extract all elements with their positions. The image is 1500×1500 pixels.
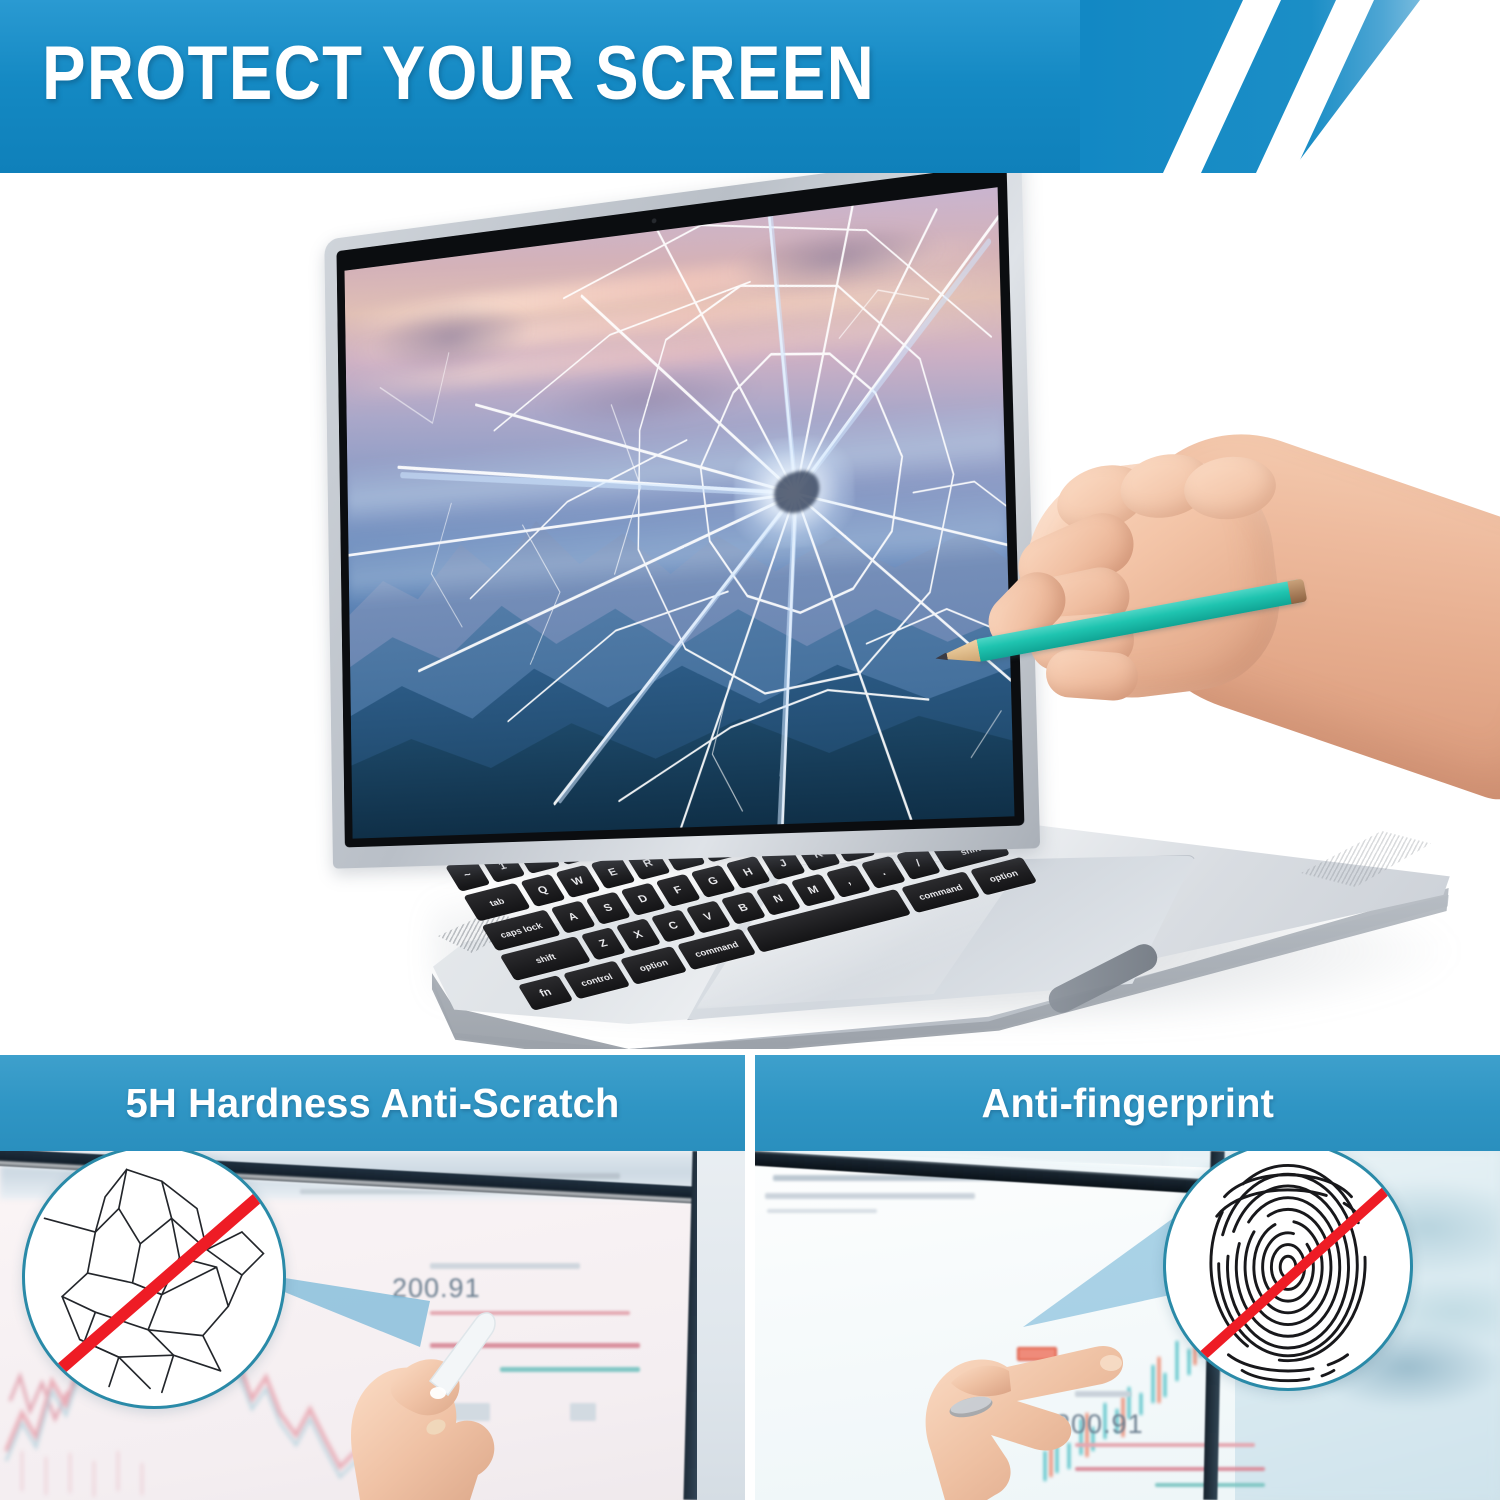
- feature-panel-anti-fingerprint: Anti-fingerprint: [755, 1055, 1500, 1500]
- panel-photo-anti-scratch: 200.91: [0, 1151, 745, 1500]
- header-banner: PROTECT YOUR SCREEN: [0, 0, 1500, 173]
- panel-title-anti-scratch: 5H Hardness Anti-Scratch: [126, 1080, 620, 1127]
- laptop-screen-bezel: [336, 173, 1024, 847]
- finger-pinky: [1044, 648, 1139, 702]
- feature-panel-anti-scratch: 5H Hardness Anti-Scratch: [0, 1055, 745, 1500]
- laptop-lid: [324, 173, 1040, 869]
- screen-crack-overlay: [345, 187, 1015, 838]
- laptop-screen: [345, 187, 1015, 838]
- callout-anti-scratch: [22, 1151, 286, 1409]
- laptop-photo: esc F1 F2 F3 F4 F5 F6 F7 F8 F9 F10 F11 F…: [0, 173, 1500, 1050]
- callout-anti-fingerprint: [1163, 1151, 1413, 1391]
- panel-banner-anti-fingerprint: Anti-fingerprint: [755, 1055, 1500, 1151]
- webcam-icon: [652, 218, 657, 223]
- product-feature-infographic: PROTECT YOUR SCREEN esc F1 F2: [0, 0, 1500, 1500]
- feature-panels: 5H Hardness Anti-Scratch: [0, 1055, 1500, 1500]
- panel-photo-anti-fingerprint: 200.91: [755, 1151, 1500, 1500]
- hero-section: esc F1 F2 F3 F4 F5 F6 F7 F8 F9 F10 F11 F…: [0, 173, 1500, 1050]
- page-title: PROTECT YOUR SCREEN: [42, 36, 875, 112]
- hand-holding-pencil: [960, 433, 1500, 863]
- panel-banner-anti-scratch: 5H Hardness Anti-Scratch: [0, 1055, 745, 1151]
- crack-lines: [345, 187, 1015, 838]
- panel-title-anti-fingerprint: Anti-fingerprint: [981, 1080, 1273, 1127]
